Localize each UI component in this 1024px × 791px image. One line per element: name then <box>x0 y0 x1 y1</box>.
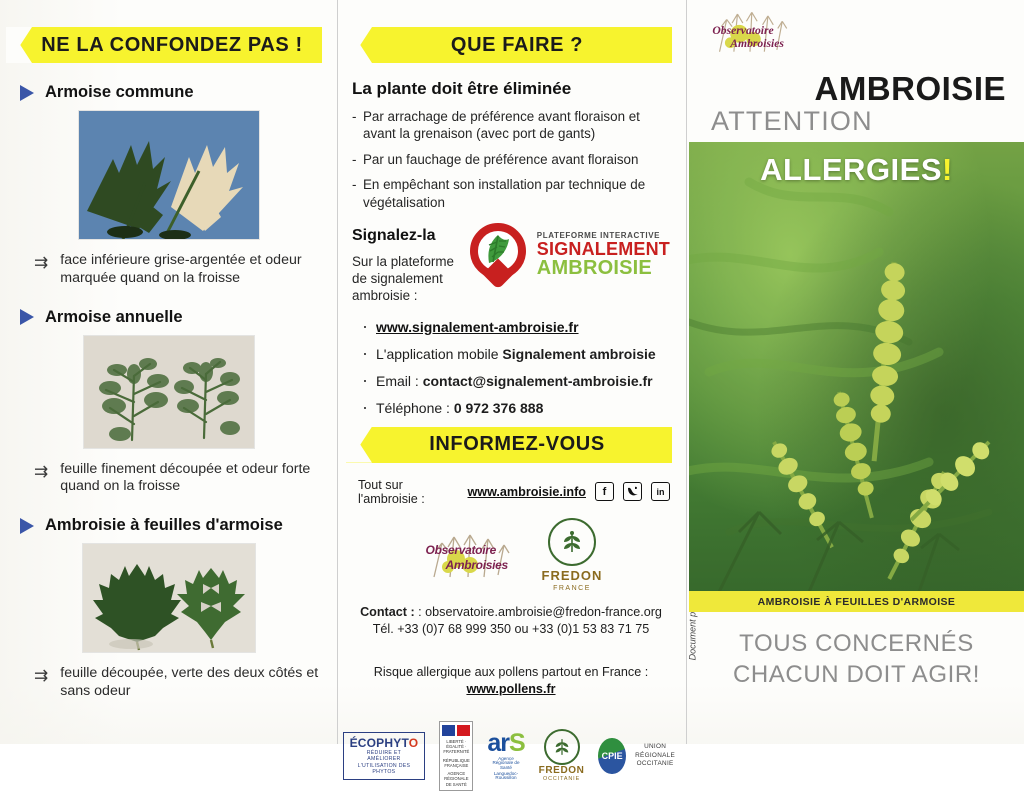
contact-phone: Tél. +33 (0)7 68 999 350 ou +33 (0)1 53 … <box>373 622 650 636</box>
double-arrow-icon: ⇉ <box>34 463 48 480</box>
elimination-list: Par arrachage de préférence avant florai… <box>352 108 670 211</box>
ribbon-notch-icon <box>346 427 372 463</box>
ecophyto-accent: O <box>409 736 419 750</box>
contact-email[interactable]: : observatoire.ambroisie@fredon-france.o… <box>418 605 662 619</box>
slogan-line-1: TOUS CONCERNÉS <box>689 628 1024 659</box>
facebook-icon[interactable]: f <box>595 482 614 501</box>
fredon-sub: FRANCE <box>553 585 591 592</box>
cover-footer-slogan: TOUS CONCERNÉS CHACUN DOIT AGIR! <box>689 628 1024 690</box>
list-item-ambroisie: Ambroisie à feuilles d'armoise <box>20 516 326 535</box>
cover-title-block: AMBROISIE ATTENTION <box>689 72 1024 139</box>
ribbon-notch-icon <box>346 27 372 63</box>
fredon-name: FREDON <box>542 568 603 583</box>
banner-ne-la-confondez-pas: NE LA CONFONDEZ PAS ! <box>6 27 322 63</box>
footer-logo-row: ÉCOPHYTO RÉDUIRE ET AMÉLIORER L'UTILISAT… <box>352 721 670 791</box>
list-item-email[interactable]: Email : contact@signalement-ambroisie.fr <box>360 373 670 389</box>
item-title: Ambroisie à feuilles d'armoise <box>45 516 283 535</box>
fredon-leaf-icon <box>544 729 580 765</box>
svg-text:Observatoire: Observatoire <box>712 24 773 37</box>
fredon-occitanie-name: FREDON <box>539 765 585 776</box>
signalement-ambroisie-logo: PLATEFORME INTERACTIVE SIGNALEMENT AMBRO… <box>470 223 670 287</box>
armoise-annuelle-photo <box>83 335 255 449</box>
hero-caption-text: AMBROISIE À FEUILLES D'ARMOISE <box>758 596 956 608</box>
middle-panel: QUE FAIRE ? La plante doit être éliminée… <box>337 0 687 744</box>
fredon-leaf-icon <box>548 518 596 566</box>
email-address[interactable]: contact@signalement-ambroisie.fr <box>423 373 653 389</box>
risk-block: Risque allergique aux pollens partout en… <box>352 664 670 699</box>
pollens-link[interactable]: www.pollens.fr <box>466 682 555 696</box>
item-description: feuille finement découpée et odeur forte… <box>60 461 322 497</box>
list-item-website[interactable]: www.signalement-ambroisie.fr <box>360 319 670 335</box>
signalement-website-link[interactable]: www.signalement-ambroisie.fr <box>376 319 579 335</box>
ecophyto-sub2: L'UTILISATION DES PHYTOS <box>350 764 419 775</box>
mobile-app-name: Signalement ambroisie <box>502 346 655 362</box>
map-pin-leaf-icon <box>470 223 530 287</box>
ecophyto-name: ÉCOPHYT <box>350 736 409 750</box>
marianne-line2: RÉPUBLIQUE FRANÇAISE <box>442 758 470 769</box>
partner-logo-row: Observatoire Ambroisies <box>352 518 670 592</box>
mobile-app-prefix: L'application mobile <box>376 346 502 362</box>
contact-block: Contact : : observatoire.ambroisie@fredo… <box>352 604 670 638</box>
banner-informez-vous: INFORMEZ-VOUS <box>346 427 672 463</box>
elimination-heading: La plante doit être éliminée <box>352 79 670 99</box>
banner-label: INFORMEZ-VOUS <box>413 433 605 456</box>
linkedin-icon[interactable]: in <box>651 482 670 501</box>
list-item-armoise-commune: Armoise commune <box>20 83 326 102</box>
phone-number: 0 972 376 888 <box>454 400 544 416</box>
page-title: AMBROISIE <box>689 72 1024 105</box>
item-description: feuille découpée, verte des deux côtés e… <box>60 665 322 701</box>
left-panel: NE LA CONFONDEZ PAS ! Armoise commune <box>0 0 336 744</box>
signalement-line3: AMBROISIE <box>537 258 670 278</box>
signalement-line2: SIGNALEMENT <box>537 240 670 258</box>
signalez-heading: Signalez-la <box>352 227 464 245</box>
observatoire-ambroisies-logo: Observatoire Ambroisies <box>420 529 516 581</box>
item-description: face inférieure grise-argentée et odeur … <box>60 252 322 288</box>
ecophyto-logo: ÉCOPHYTO RÉDUIRE ET AMÉLIORER L'UTILISAT… <box>343 732 426 780</box>
observatoire-ambroisies-logo-cover: Observatoire Ambroisies <box>707 6 793 63</box>
observatoire-logo-line2: Ambroisies <box>446 558 508 572</box>
signalez-subtext: Sur la plateforme de signalement ambrois… <box>352 253 464 304</box>
email-prefix: Email : <box>376 373 423 389</box>
ars-logo: arS Agence Régionale de Santé Languedoc-… <box>487 731 524 781</box>
triangle-bullet-icon <box>20 85 34 101</box>
allergies-exclamation: ! <box>942 152 953 187</box>
french-flag-icon <box>442 725 470 736</box>
double-arrow-icon: ⇉ <box>34 667 48 684</box>
cpie-mark-icon: CPIE <box>598 738 625 774</box>
marianne-line1: LIBERTÉ · ÉGALITÉ · FRATERNITÉ <box>442 739 470 755</box>
armoise-commune-photo <box>78 110 260 240</box>
banner-label: NE LA CONFONDEZ PAS ! <box>25 34 303 57</box>
list-item-armoise-annuelle: Armoise annuelle <box>20 308 326 327</box>
svg-text:Ambroisies: Ambroisies <box>729 37 784 50</box>
banner-que-faire: QUE FAIRE ? <box>346 27 672 63</box>
republique-francaise-logo: LIBERTÉ · ÉGALITÉ · FRATERNITÉ RÉPUBLIQU… <box>439 721 473 791</box>
contact-label: Contact : <box>360 605 415 619</box>
cpie-line1: UNION RÉGIONALE <box>631 743 680 760</box>
banner-label: QUE FAIRE ? <box>435 34 583 57</box>
brochure-page: NE LA CONFONDEZ PAS ! Armoise commune <box>0 0 1024 744</box>
item-title: Armoise annuelle <box>45 308 183 327</box>
item-description-row: ⇉ feuille finement découpée et odeur for… <box>34 461 326 497</box>
cover-allergies-title: ALLERGIES! <box>689 152 1024 188</box>
cpie-union-regionale-logo: CPIE UNION RÉGIONALE OCCITANIE <box>598 738 679 774</box>
cpie-line2: OCCITANIE <box>631 760 680 768</box>
allergies-word: ALLERGIES <box>760 152 942 187</box>
fredon-occitanie-logo: FREDON OCCITANIE <box>539 729 585 782</box>
signalez-section: Signalez-la Sur la plateforme de signale… <box>352 227 670 304</box>
list-item: En empêchant son installation par techni… <box>352 176 670 211</box>
item-title: Armoise commune <box>45 83 194 102</box>
triangle-bullet-icon <box>20 309 34 325</box>
ars-sub1: Agence Régionale de Santé <box>487 757 524 771</box>
list-item-mobile-app: L'application mobile Signalement ambrois… <box>360 346 670 362</box>
ars-name: arS <box>487 731 524 756</box>
right-panel-cover: Observatoire Ambroisies <box>689 0 1024 744</box>
ambroisie-info-link[interactable]: www.ambroisie.info <box>468 485 587 499</box>
fredon-occitanie-sub: OCCITANIE <box>543 776 580 782</box>
page-subtitle: ATTENTION <box>689 105 1024 139</box>
ambroisie-feuilles-armoise-photo <box>82 543 256 653</box>
triangle-bullet-icon <box>20 518 34 534</box>
ambroisie-hero-photo <box>689 142 1024 592</box>
item-description-row: ⇉ feuille découpée, verte des deux côtés… <box>34 665 326 701</box>
list-item: Par un fauchage de préférence avant flor… <box>352 151 670 168</box>
risk-text: Risque allergique aux pollens partout en… <box>374 665 648 679</box>
hero-photo-caption: AMBROISIE À FEUILLES D'ARMOISE <box>689 591 1024 612</box>
info-prefix: Tout sur l'ambroisie : <box>358 478 465 506</box>
marianne-line3: AGENCE RÉGIONALE DE SANTÉ <box>442 771 470 787</box>
contact-bullet-list: www.signalement-ambroisie.fr L'applicati… <box>360 319 670 416</box>
list-item-phone: Téléphone : 0 972 376 888 <box>360 400 670 416</box>
item-description-row: ⇉ face inférieure grise-argentée et odeu… <box>34 252 326 288</box>
double-arrow-icon: ⇉ <box>34 254 48 271</box>
info-website-row: Tout sur l'ambroisie : www.ambroisie.inf… <box>358 478 670 506</box>
slogan-line-2: CHACUN DOIT AGIR! <box>689 659 1024 690</box>
phone-prefix: Téléphone : <box>376 400 454 416</box>
ecophyto-sub1: RÉDUIRE ET AMÉLIORER <box>350 751 419 762</box>
list-item: Par arrachage de préférence avant florai… <box>352 108 670 143</box>
twitter-icon[interactable] <box>623 482 642 501</box>
fredon-france-logo: FREDON FRANCE <box>542 518 603 592</box>
ars-sub2: Languedoc-Roussillon <box>487 772 524 781</box>
observatoire-logo-line1: Observatoire <box>426 543 496 557</box>
